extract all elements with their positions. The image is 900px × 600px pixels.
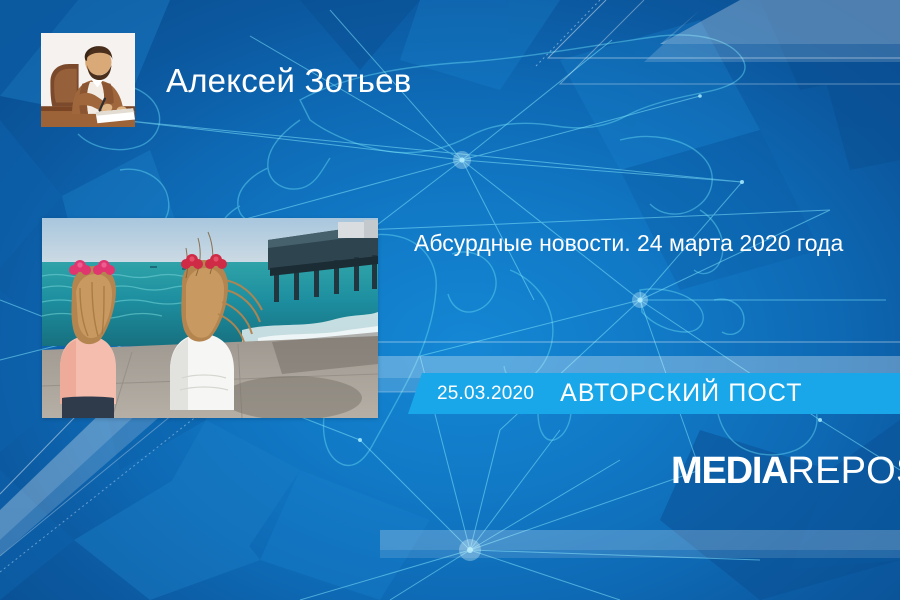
author-name: Алексей Зотьев	[166, 62, 411, 100]
post-date: 25.03.2020	[437, 383, 534, 405]
mediarepost-logo[interactable]: MEDIAREPOST	[671, 452, 900, 490]
post-type-label: АВТОРСКИЙ ПОСТ	[560, 379, 802, 408]
post-card: Алексей Зотьев	[0, 0, 900, 600]
avatar	[41, 33, 135, 127]
author-portrait-illustration	[41, 33, 135, 127]
beach-girls-pier-photo	[42, 218, 378, 418]
logo-bold-part: MEDIA	[671, 450, 787, 492]
logo-light-part: REPOST	[787, 450, 900, 492]
article-photo	[42, 218, 378, 418]
headline: Абсурдные новости. 24 марта 2020 года	[414, 226, 886, 260]
post-badge: 25.03.2020 АВТОРСКИЙ ПОСТ	[408, 373, 900, 414]
